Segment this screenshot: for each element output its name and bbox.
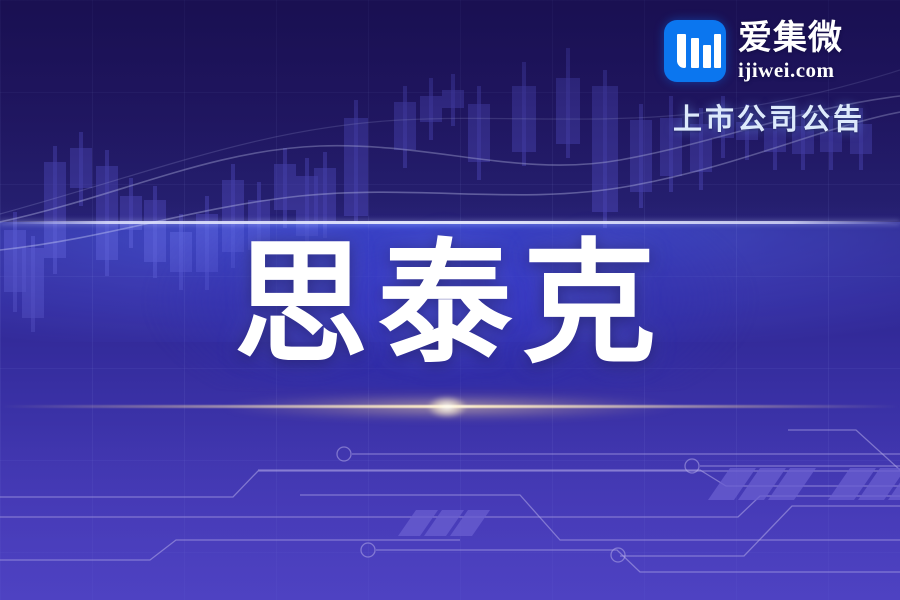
ijiwei-logo-mark-icon[interactable]	[664, 20, 726, 82]
bottom-gradient-lift	[0, 420, 900, 600]
logo-j-hook	[677, 55, 686, 68]
horizontal-light-divider	[0, 221, 900, 224]
light-streak-core	[420, 392, 474, 422]
announcement-banner: 思泰克 爱集微 ijiwei.com 上市公司公告	[0, 0, 900, 600]
page-title: 思泰克	[0, 236, 900, 373]
brand-logo-block[interactable]: 爱集微 ijiwei.com 上市公司公告	[664, 20, 874, 138]
logo-bar-2	[703, 45, 711, 68]
banner-subtitle: 上市公司公告	[664, 96, 874, 138]
logo-bar-1	[691, 38, 699, 68]
brand-name-cn: 爱集微	[738, 21, 843, 55]
brand-wordmark: 爱集微 ijiwei.com	[738, 21, 843, 81]
logo-bar-3	[714, 34, 721, 68]
brand-domain: ijiwei.com	[738, 60, 843, 81]
brand-logo-row[interactable]: 爱集微 ijiwei.com	[664, 20, 874, 82]
